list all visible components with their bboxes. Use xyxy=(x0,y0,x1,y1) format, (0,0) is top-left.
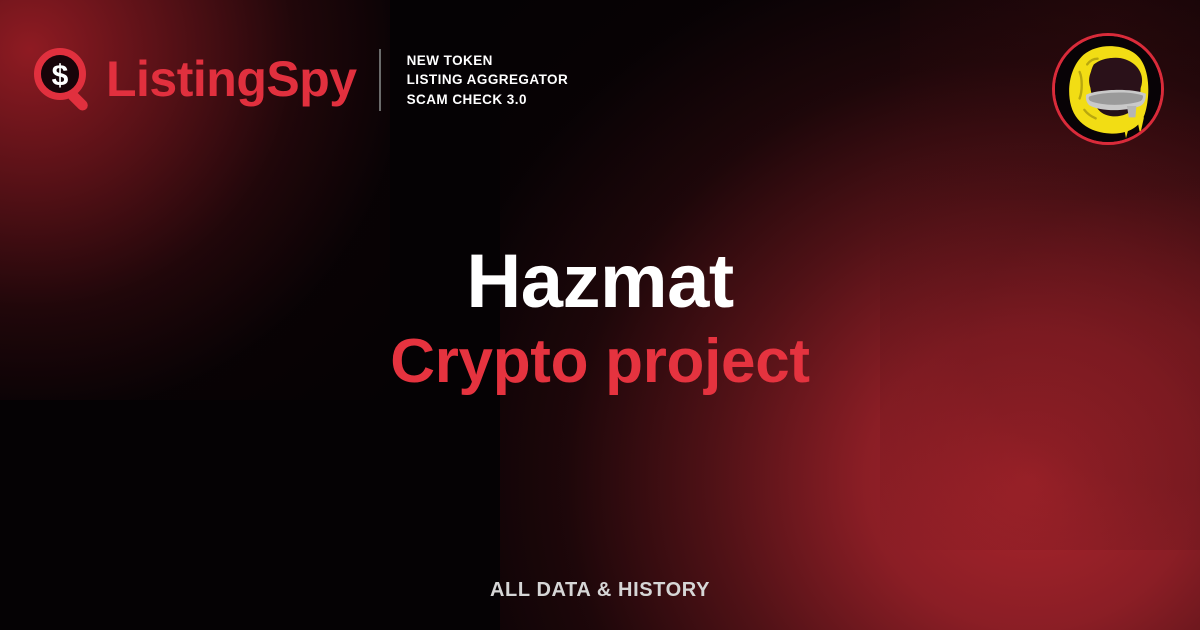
brand-tagline: NEW TOKEN LISTING AGGREGATOR SCAM CHECK … xyxy=(407,52,569,108)
hazmat-suit-avatar-icon xyxy=(1055,36,1161,142)
brand-wordmark: ListingSpy xyxy=(106,54,357,104)
tagline-line-2: LISTING AGGREGATOR xyxy=(407,71,569,88)
tagline-line-1: NEW TOKEN xyxy=(407,52,569,69)
svg-text:$: $ xyxy=(52,60,69,93)
header: $ ListingSpy NEW TOKEN LISTING AGGREGATO… xyxy=(34,48,568,112)
footer: ALL DATA & HISTORY xyxy=(0,579,1200,602)
listingspy-share-card: $ ListingSpy NEW TOKEN LISTING AGGREGATO… xyxy=(0,0,1200,630)
header-divider xyxy=(379,49,381,111)
brand-logo[interactable]: $ ListingSpy xyxy=(34,48,357,112)
page-subtitle: Crypto project xyxy=(0,329,1200,394)
footer-text: ALL DATA & HISTORY xyxy=(490,579,710,601)
page-title: Hazmat xyxy=(0,243,1200,321)
magnifier-dollar-icon: $ xyxy=(34,48,96,112)
project-avatar[interactable] xyxy=(1052,33,1164,145)
hero-block: Hazmat Crypto project xyxy=(0,243,1200,394)
tagline-line-3: SCAM CHECK 3.0 xyxy=(407,91,569,108)
